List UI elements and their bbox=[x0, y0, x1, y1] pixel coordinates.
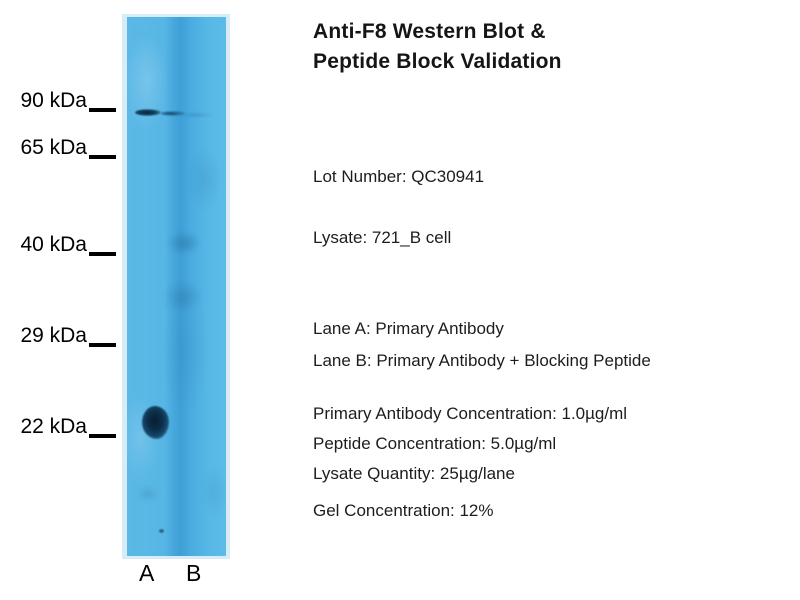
band-90kda-lane-a bbox=[135, 109, 161, 116]
background-smudge-middle bbox=[163, 282, 203, 312]
lane-label-a: A bbox=[139, 562, 154, 585]
mw-marker-65kda-label: 65 kDa bbox=[20, 137, 87, 158]
mw-marker-22kda: 22 kDa bbox=[0, 412, 122, 440]
page-title-line-1: Anti-F8 Western Blot & bbox=[313, 17, 793, 47]
mw-marker-22kda-label: 22 kDa bbox=[20, 416, 87, 437]
lysate-text: Lysate: 721_B cell bbox=[313, 229, 451, 246]
mw-tick-icon bbox=[89, 434, 116, 438]
band-90kda-lane-b bbox=[161, 111, 185, 116]
mw-marker-29kda: 29 kDa bbox=[0, 321, 122, 349]
mw-marker-90kda: 90 kDa bbox=[0, 86, 122, 114]
primary-antibody-concentration-text: Primary Antibody Concentration: 1.0µg/ml bbox=[313, 405, 627, 422]
blot-info-panel: Anti-F8 Western Blot & Peptide Block Val… bbox=[313, 0, 800, 600]
mw-marker-29kda-label: 29 kDa bbox=[20, 325, 87, 346]
background-smudge-upper bbox=[167, 232, 201, 254]
lane-a-description: Lane A: Primary Antibody bbox=[313, 320, 504, 337]
peptide-concentration-text: Peptide Concentration: 5.0µg/ml bbox=[313, 435, 556, 452]
western-blot-figure: 90 kDa 65 kDa 40 kDa 29 kDa 22 kDa A B bbox=[0, 0, 300, 600]
lysate-quantity-text: Lysate Quantity: 25µg/lane bbox=[313, 465, 515, 482]
mw-tick-icon bbox=[89, 343, 116, 347]
mw-marker-90kda-label: 90 kDa bbox=[20, 90, 87, 111]
background-smudge-lower bbox=[137, 487, 159, 501]
lane-label-b: B bbox=[186, 562, 201, 585]
mw-marker-65kda: 65 kDa bbox=[0, 133, 122, 161]
mw-marker-40kda-label: 40 kDa bbox=[20, 234, 87, 255]
mw-tick-icon bbox=[89, 155, 116, 159]
lane-b-description: Lane B: Primary Antibody + Blocking Pept… bbox=[313, 352, 651, 369]
mw-tick-icon bbox=[89, 252, 116, 256]
mw-tick-icon bbox=[89, 108, 116, 112]
mw-marker-40kda: 40 kDa bbox=[0, 230, 122, 258]
blot-membrane bbox=[122, 14, 230, 559]
page-title-line-2: Peptide Block Validation bbox=[313, 47, 793, 77]
gel-concentration-text: Gel Concentration: 12% bbox=[313, 502, 494, 519]
background-speck bbox=[159, 529, 164, 533]
lane-label-row: A B bbox=[122, 562, 234, 592]
blot-gel-surface bbox=[127, 17, 226, 556]
band-22kda-lane-a bbox=[142, 406, 169, 439]
page-title: Anti-F8 Western Blot & Peptide Block Val… bbox=[313, 17, 793, 77]
lot-number-text: Lot Number: QC30941 bbox=[313, 168, 484, 185]
band-90kda-faint-tail bbox=[183, 113, 213, 117]
